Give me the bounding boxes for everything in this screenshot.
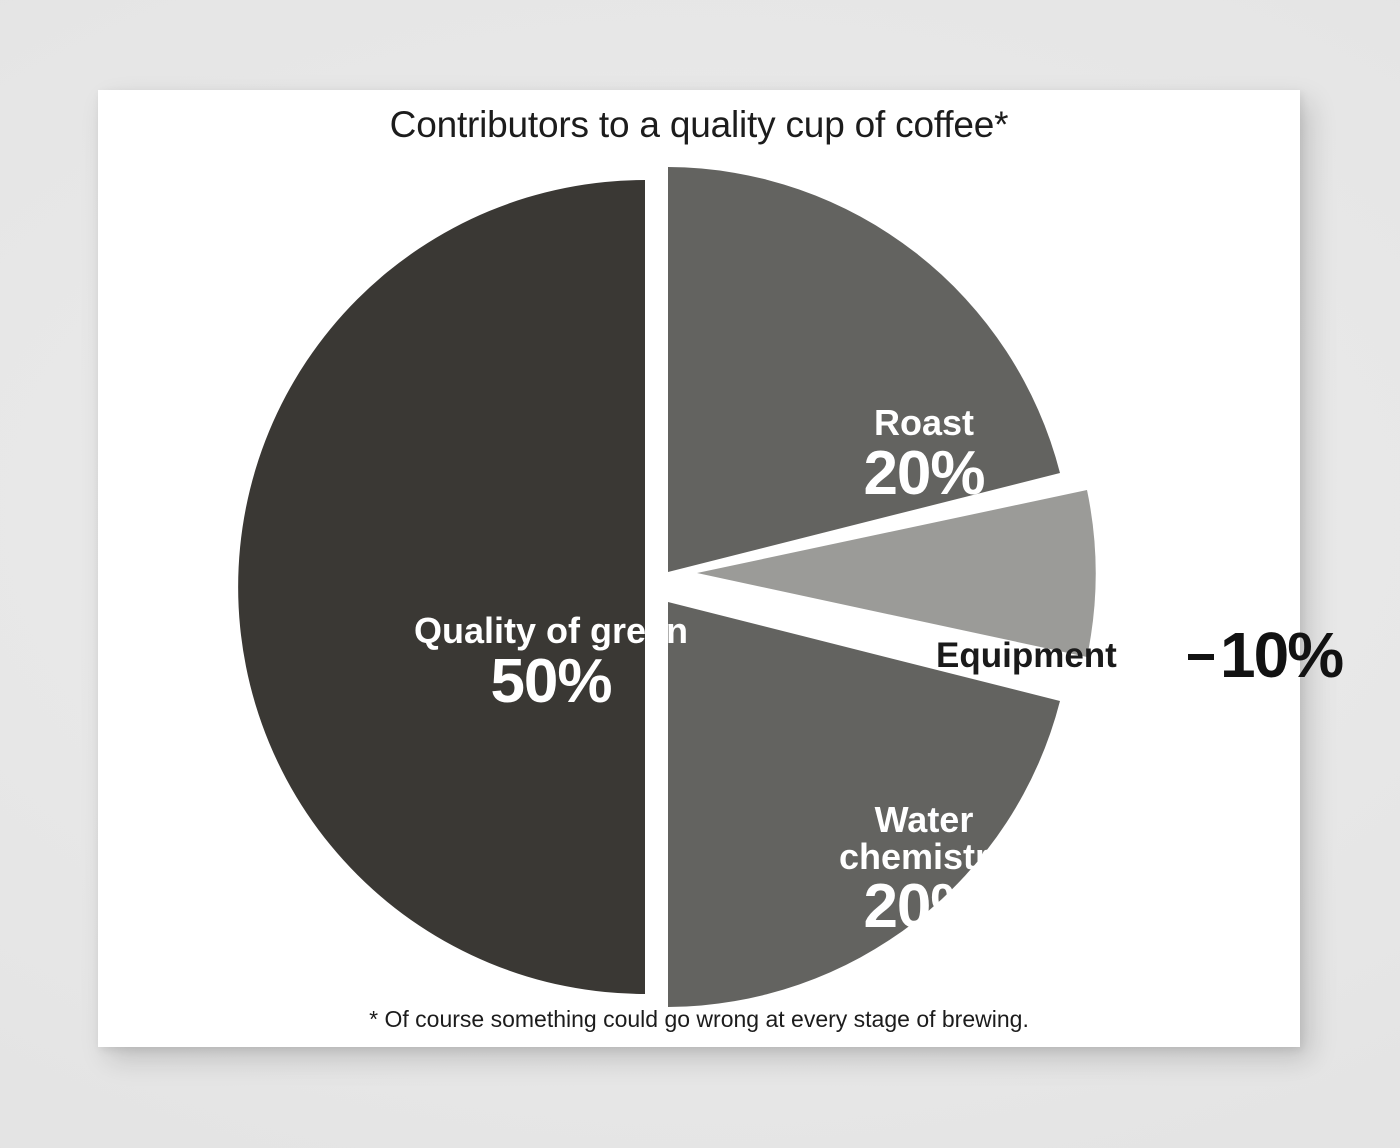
slice-callout-equipment-value: 10% [1220, 623, 1342, 687]
slice-callout-equipment: 10% [1188, 623, 1342, 687]
pie-slice-quality-of-green[interactable] [238, 180, 645, 994]
callout-leader-line-icon [1188, 654, 1214, 660]
pie-chart-graphic [98, 90, 1300, 1047]
screenshot-stage: Contributors to a quality cup of coffee*… [0, 0, 1400, 1148]
chart-footnote: * Of course something could go wrong at … [98, 1006, 1300, 1033]
chart-card: Contributors to a quality cup of coffee*… [98, 90, 1300, 1047]
pie-slice-water-chemistry[interactable] [668, 602, 1060, 1007]
